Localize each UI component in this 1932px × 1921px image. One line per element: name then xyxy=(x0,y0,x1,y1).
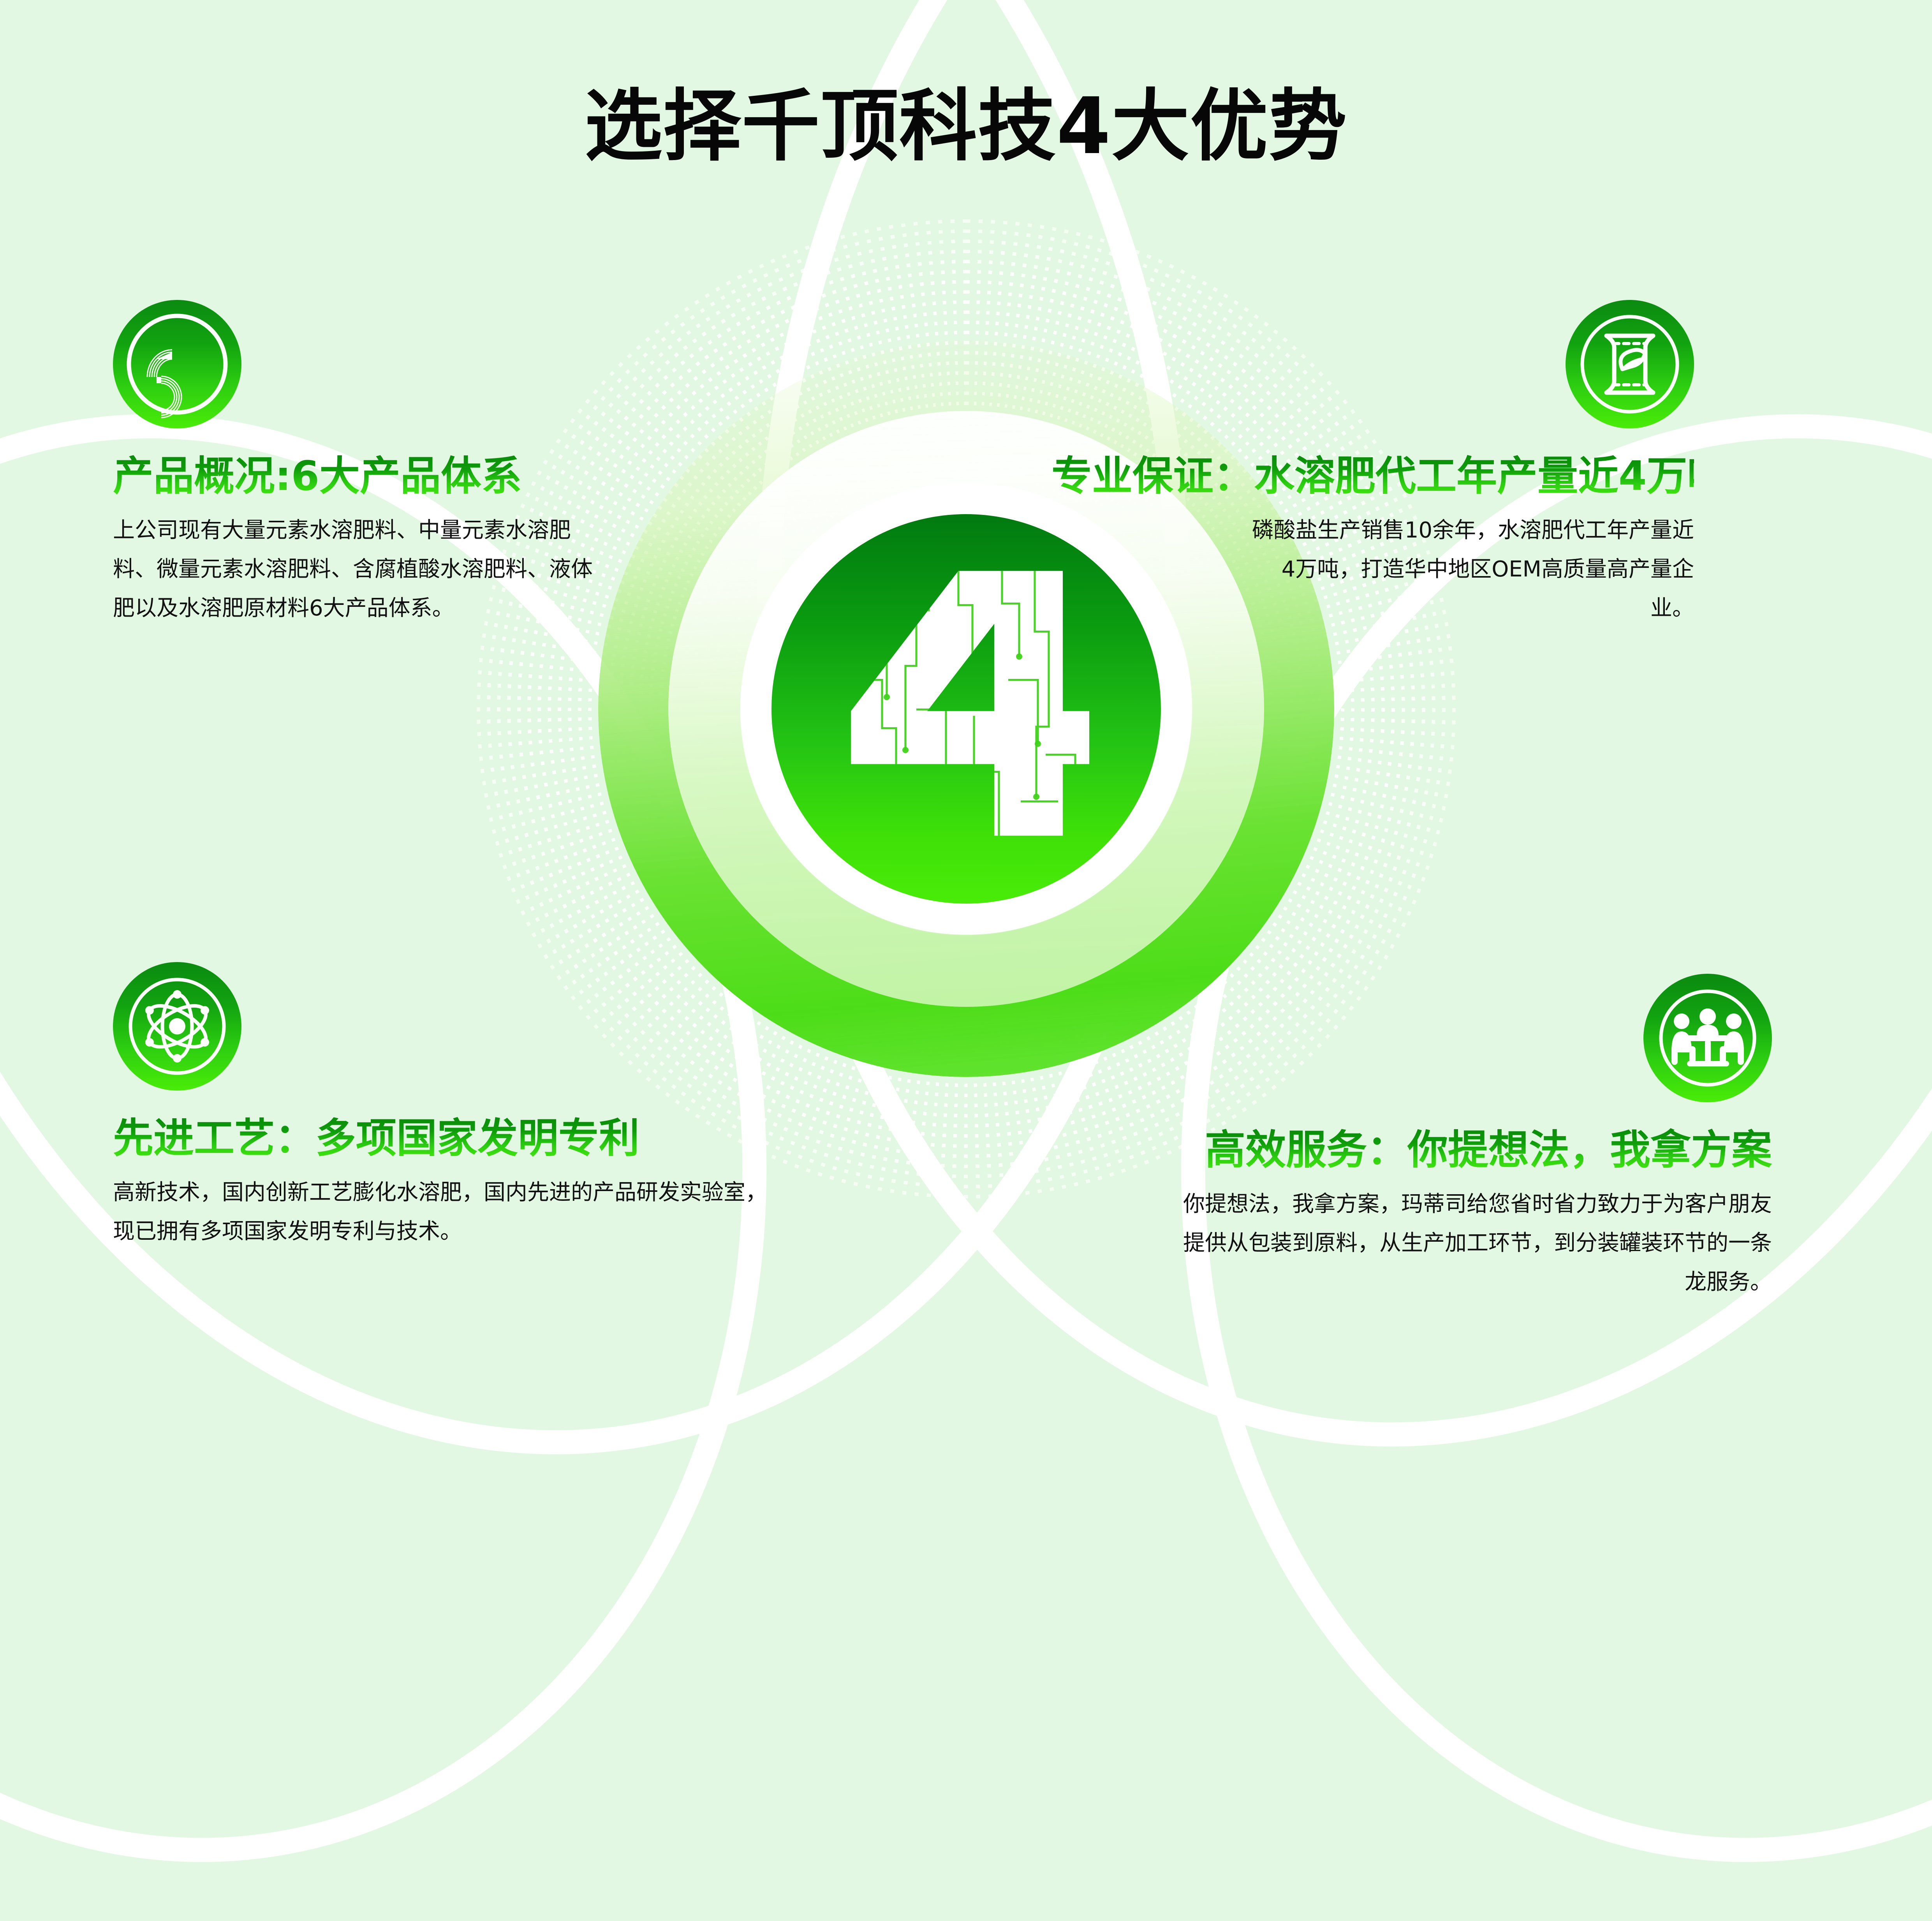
feature-card-bottom-right: 高效服务：你提想法，我拿方案 你提想法，我拿方案，玛蒂司给您省时省力致力于为客户… xyxy=(1176,974,1772,1301)
page-title: 选择千顶科技4大优势 xyxy=(0,88,1932,166)
feature-card-top-right: 专业保证：水溶肥代工年产量近4万吨 磷酸盐生产销售10余年，水溶肥代工年产量近4… xyxy=(1051,300,1694,627)
feature-heading-bottom-left: 先进工艺：多项国家发明专利 xyxy=(113,1116,767,1160)
feature-body-top-right: 磷酸盐生产销售10余年，水溶肥代工年产量近4万吨，打造华中地区OEM高质量高产量… xyxy=(1242,511,1694,627)
badge-bottom-right xyxy=(1643,974,1772,1102)
feature-body-bottom-right: 你提想法，我拿方案，玛蒂司给您省时省力致力于为客户朋友提供从包装到原料，从生产加… xyxy=(1180,1185,1772,1301)
badge-top-right xyxy=(1566,300,1694,428)
feature-heading-top-right: 专业保证：水溶肥代工年产量近4万吨 xyxy=(1051,454,1694,498)
badge-bottom-left xyxy=(113,962,241,1091)
fertilizer-bag-icon xyxy=(1566,300,1694,428)
feature-body-bottom-left: 高新技术，国内创新工艺膨化水溶肥，国内先进的产品研发实验室，现已拥有多项国家发明… xyxy=(113,1173,767,1251)
feature-heading-bottom-right: 高效服务：你提想法，我拿方案 xyxy=(1176,1128,1772,1172)
number-six-rings-icon xyxy=(113,300,241,428)
atom-icon xyxy=(113,962,241,1091)
feature-body-top-left: 上公司现有大量元素水溶肥料、中量元素水溶肥料、微量元素水溶肥料、含腐植酸水溶肥料… xyxy=(113,511,604,627)
feature-card-top-left: 产品概况:6大产品体系 上公司现有大量元素水溶肥料、中量元素水溶肥料、微量元素水… xyxy=(113,300,654,627)
feature-heading-top-left: 产品概况:6大产品体系 xyxy=(113,454,654,498)
feature-card-bottom-left: 先进工艺：多项国家发明专利 高新技术，国内创新工艺膨化水溶肥，国内先进的产品研发… xyxy=(113,962,767,1251)
badge-top-left xyxy=(113,300,241,428)
meeting-team-icon xyxy=(1643,974,1772,1102)
